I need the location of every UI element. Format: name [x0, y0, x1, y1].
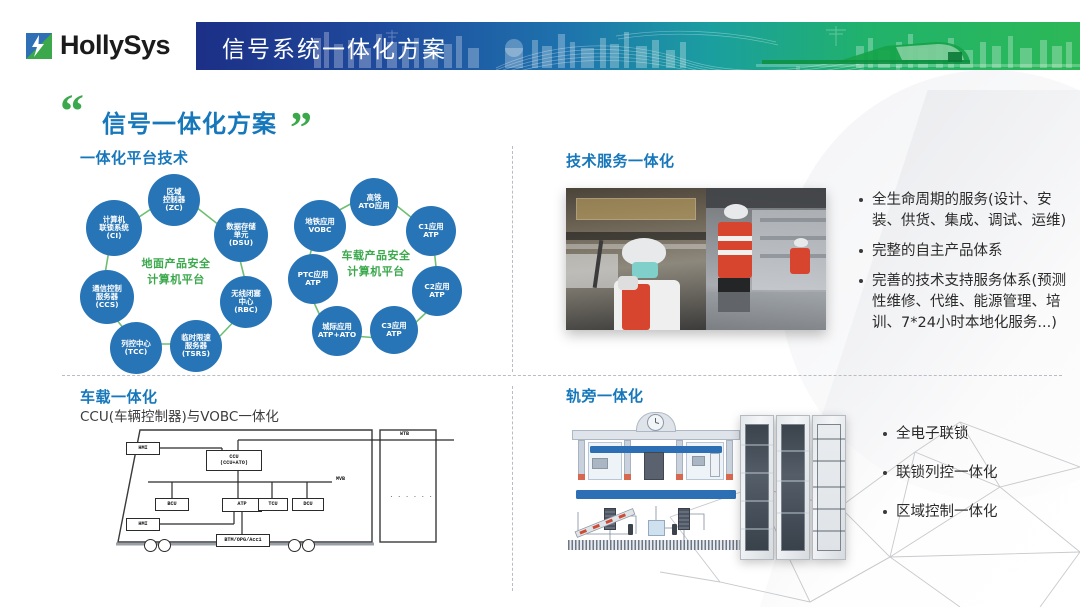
hollysys-lightning-logo-icon	[24, 31, 54, 61]
trackside-bullet-list: 全电子联锁 联锁列控一体化 区域控制一体化	[880, 424, 1080, 532]
box-ccu[interactable]: CCU (CCU+ATO)	[206, 450, 262, 471]
cabinet	[740, 415, 774, 560]
maintenance-engineers-photo	[566, 188, 826, 330]
train-wheel	[302, 539, 315, 552]
box-hmi-top[interactable]: HMI	[126, 442, 160, 455]
bullet-item: 全生命周期的服务(设计、安装、供货、集成、调试、运维)	[856, 190, 1071, 232]
train-wheel	[144, 539, 157, 552]
node-tsrs[interactable]: 临时限速 服务器 (TSRS)	[170, 320, 222, 372]
ground-platform-circle-diagram: 区域 控制器 (ZC) 数据存储 单元 (DSU) 无线闭塞 中心 (RBC) …	[78, 172, 274, 368]
train-wheel	[288, 539, 301, 552]
train-wheel	[158, 539, 171, 552]
quote-close-mark: ”	[290, 106, 312, 150]
heading-onboard-integration: 车载一体化	[80, 386, 158, 407]
node-metro-vobc[interactable]: 地铁应用 VOBC	[294, 200, 346, 252]
cabinet	[812, 415, 846, 560]
cabinet-glass	[781, 424, 805, 551]
headline-text: 信号一体化方案	[102, 104, 277, 139]
horizontal-divider	[62, 375, 1062, 376]
node-c3-atp[interactable]: C3应用 ATP	[370, 306, 418, 354]
bullet-item: 区域控制一体化	[880, 502, 1080, 523]
station-illustration	[566, 408, 746, 560]
page-title: 信号系统一体化方案	[222, 30, 447, 64]
heading-platform-tech: 一体化平台技术	[80, 147, 189, 168]
box-dcu[interactable]: DCU	[292, 498, 324, 511]
onboard-platform-core-label: 车载产品安全 计算机平台	[314, 248, 438, 280]
bullet-item: 完善的技术支持服务体系(预测性维修、代维、能源管理、培训、7*24小时本地化服务…	[856, 271, 1071, 334]
quote-open-mark: “	[60, 88, 84, 136]
track-ballast	[568, 540, 740, 550]
bullet-item: 联锁列控一体化	[880, 463, 1080, 484]
headline-quote-block: “ 信号一体化方案 ”	[60, 88, 360, 144]
node-tcc[interactable]: 列控中心 (TCC)	[110, 322, 162, 374]
bullet-item: 全电子联锁	[880, 424, 1080, 445]
box-btm-opg-acc[interactable]: BTM/OPG/Acc1	[216, 534, 270, 547]
node-dsu[interactable]: 数据存储 单元 (DSU)	[214, 208, 268, 262]
train-schematic: HMI CCU (CCU+ATO) BCU ATP TCU DCU HMI BT…	[82, 420, 482, 570]
node-hsr-ato[interactable]: 高铁 ATO应用	[350, 178, 398, 226]
vertical-divider-top	[512, 146, 513, 372]
box-bcu[interactable]: BCU	[155, 498, 189, 511]
node-intercity-atp-ato[interactable]: 城际应用 ATP+ATO	[312, 306, 362, 356]
heading-tech-service: 技术服务一体化	[566, 150, 675, 171]
node-zc[interactable]: 区域 控制器 (ZC)	[148, 174, 200, 226]
node-ci[interactable]: 计算机 联锁系统 (CI)	[86, 200, 142, 256]
photo-right-panel	[706, 188, 826, 330]
trackside-wiring	[566, 408, 746, 560]
vertical-divider-bottom	[512, 386, 513, 591]
train-ellipsis: · · · · · ·	[390, 492, 434, 501]
box-atp[interactable]: ATP	[222, 498, 262, 512]
photo-left-panel	[566, 188, 706, 330]
equipment-cabinets	[740, 415, 850, 560]
slide-root: 信号系统一体化方案 HollySys “ 信号一体化方案 ” 一体化平台技术	[0, 0, 1080, 607]
bullet-item: 完整的自主产品体系	[856, 241, 1071, 262]
box-tcu[interactable]: TCU	[258, 498, 288, 511]
slide-header: 信号系统一体化方案 HollySys	[0, 0, 1080, 90]
ground-platform-core-label: 地面产品安全 计算机平台	[114, 256, 238, 288]
onboard-platform-circle-diagram: 高铁 ATO应用 C1应用 ATP C2应用 ATP C3应用 ATP 城际应用…	[288, 178, 464, 358]
tech-service-bullet-list: 全生命周期的服务(设计、安装、供货、集成、调试、运维) 完整的自主产品体系 完善…	[856, 190, 1071, 343]
brand-name: HollySys	[60, 30, 170, 61]
box-hmi-bottom[interactable]: HMI	[126, 518, 160, 531]
heading-trackside: 轨旁一体化	[566, 385, 644, 406]
bus-label-wtb: WTB	[400, 431, 409, 437]
brand-logo[interactable]: HollySys	[24, 30, 170, 61]
cabinet	[776, 415, 810, 560]
bus-label-mvb: MVB	[336, 476, 345, 482]
